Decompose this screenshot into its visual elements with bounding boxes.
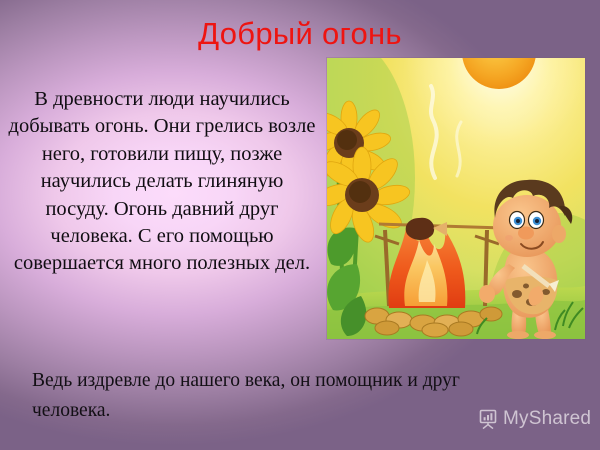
presentation-slide: Добрый огонь В древности люди научились … (0, 0, 600, 450)
slide-body-text: В древности люди научились добывать огон… (8, 86, 316, 278)
myshared-label: MyShared (503, 408, 591, 430)
campfire-illustration-svg (327, 58, 585, 339)
campfire-illustration (327, 58, 585, 339)
slide-title: Добрый огонь (0, 16, 600, 52)
presentation-chart-icon (478, 409, 498, 430)
slide-caption: Ведь издревле до нашего века, он помощни… (32, 366, 542, 426)
roasting-meat (406, 218, 434, 240)
myshared-watermark[interactable]: MyShared (478, 408, 591, 430)
